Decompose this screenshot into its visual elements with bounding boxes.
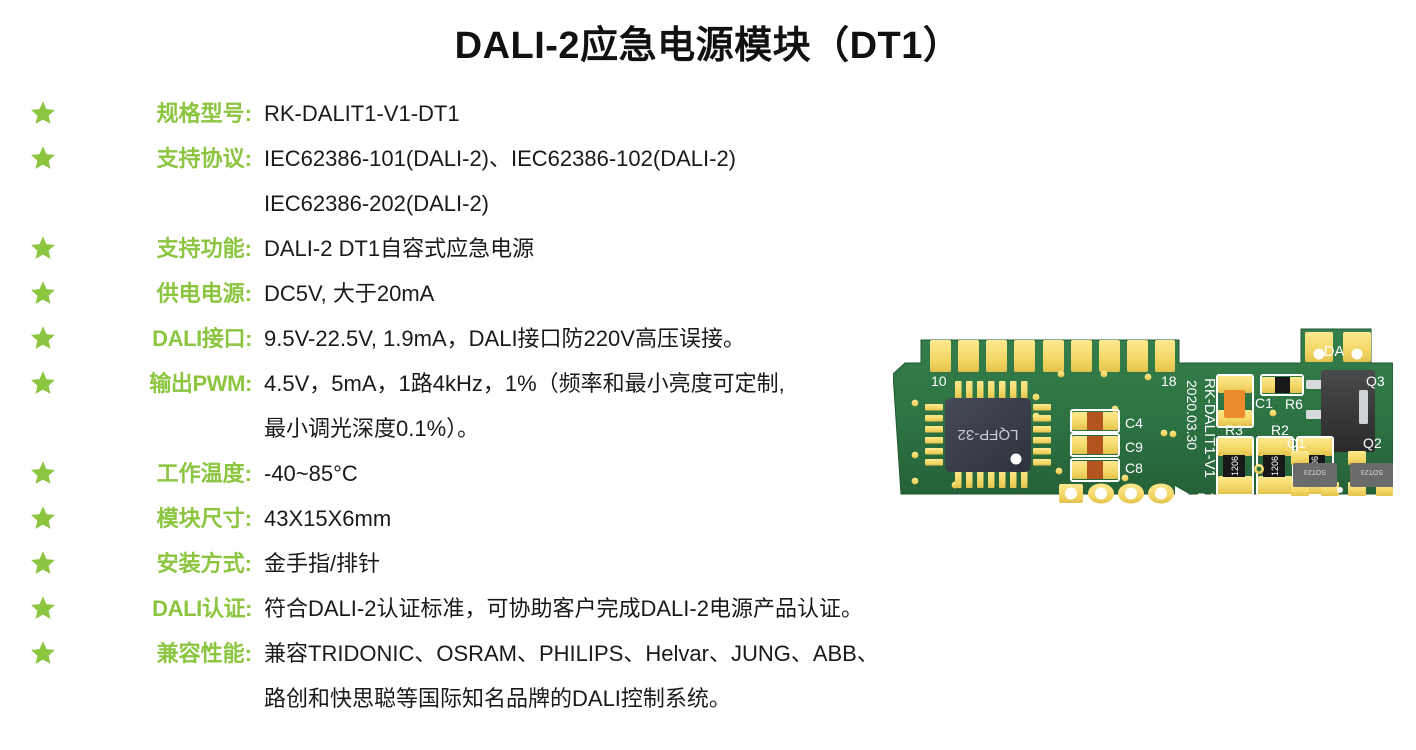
- spec-value-line: -40~85°C: [264, 456, 990, 492]
- spec-value-dali-interface: 9.5V-22.5V, 1.9mA，DALI接口防220V高压误接。: [254, 321, 990, 357]
- spec-row-mounting: 安装方式: 金手指/排针: [30, 546, 990, 591]
- silkscreen-date: 2020.03.30: [1184, 380, 1200, 450]
- spec-value-model: RK-DALIT1-V1-DT1: [254, 96, 990, 132]
- star-bullet-cell: [30, 231, 74, 261]
- silkscreen-ref-c4: C4: [1125, 415, 1143, 431]
- spec-value-line: DALI-2 DT1自容式应急电源: [264, 231, 990, 267]
- silkscreen-ref-r6: R6: [1285, 396, 1303, 412]
- spec-row-dimensions: 模块尺寸: 43X15X6mm: [30, 501, 990, 546]
- spec-value-compatibility: 兼容TRIDONIC、OSRAM、PHILIPS、Helvar、JUNG、ABB…: [254, 636, 990, 717]
- star-bullet-cell: [30, 636, 74, 666]
- spec-label-compatibility: 兼容性能:: [74, 636, 254, 672]
- star-icon: [30, 505, 56, 531]
- spec-value-line: IEC62386-101(DALI-2)、IEC62386-102(DALI-2…: [264, 141, 990, 177]
- star-icon: [30, 325, 56, 351]
- spec-label-dali-certification: DALI认证:: [74, 591, 254, 627]
- spec-row-pwm-output: 输出PWM: 4.5V，5mA，1路4kHz，1%（频率和最小亮度可定制, 最小…: [30, 366, 990, 456]
- spec-value-line: 最小调光深度0.1%）。: [264, 411, 990, 447]
- star-icon: [30, 550, 56, 576]
- silkscreen-ref-r4: R4: [1197, 490, 1215, 506]
- pcb-illustration: 10 18: [893, 318, 1393, 518]
- spec-value-features: DALI-2 DT1自容式应急电源: [254, 231, 990, 267]
- silkscreen-pin-left: 10: [931, 373, 947, 389]
- spec-value-line: 9.5V-22.5V, 1.9mA，DALI接口防220V高压误接。: [264, 321, 990, 357]
- spec-value-line: 4.5V，5mA，1路4kHz，1%（频率和最小亮度可定制,: [264, 366, 990, 402]
- spec-value-power-supply: DC5V, 大于20mA: [254, 276, 990, 312]
- spec-row-operating-temperature: 工作温度: -40~85°C: [30, 456, 990, 501]
- star-icon: [30, 100, 56, 126]
- spec-row-power-supply: 供电电源: DC5V, 大于20mA: [30, 276, 990, 321]
- spec-label-pwm-output: 输出PWM:: [74, 366, 254, 402]
- silkscreen-ref-r3: R3: [1225, 422, 1243, 438]
- spec-label-power-supply: 供电电源:: [74, 276, 254, 312]
- pcb-power-section: C1 R6 Q3 1206 1206 1206 R3: [1197, 370, 1393, 506]
- spec-row-dali-interface: DALI接口: 9.5V-22.5V, 1.9mA，DALI接口防220V高压误…: [30, 321, 990, 366]
- pcb-through-hole-pads: [1059, 484, 1189, 504]
- pcb-product-image: 10 18: [893, 318, 1393, 518]
- spec-label-dimensions: 模块尺寸:: [74, 501, 254, 537]
- spec-value-line: 路创和快思聪等国际知名品牌的DALI控制系统。: [264, 681, 990, 717]
- spec-row-protocols: 支持协议: IEC62386-101(DALI-2)、IEC62386-102(…: [30, 141, 990, 231]
- star-bullet-cell: [30, 366, 74, 396]
- silkscreen-chip-label: LQFP-32: [958, 426, 1019, 443]
- spec-label-operating-temperature: 工作温度:: [74, 456, 254, 492]
- spec-label-mounting: 安装方式:: [74, 546, 254, 582]
- spec-row-compatibility: 兼容性能: 兼容TRIDONIC、OSRAM、PHILIPS、Helvar、JU…: [30, 636, 990, 726]
- star-bullet-cell: [30, 456, 74, 486]
- page-title: DALI-2应急电源模块（DT1）: [0, 14, 1416, 69]
- silkscreen-ref-q1: Q1: [1287, 435, 1306, 451]
- star-bullet-cell: [30, 96, 74, 126]
- silkscreen-model: RK-DALIT1-V1: [1201, 378, 1218, 478]
- silkscreen-ref-c8: C8: [1125, 460, 1143, 476]
- spec-value-pwm-output: 4.5V，5mA，1路4kHz，1%（频率和最小亮度可定制, 最小调光深度0.1…: [254, 366, 990, 447]
- pcb-gold-fingers: [930, 340, 1175, 372]
- star-bullet-cell: [30, 546, 74, 576]
- star-icon: [30, 460, 56, 486]
- spec-value-line: IEC62386-202(DALI-2): [264, 186, 990, 222]
- star-bullet-cell: [30, 591, 74, 621]
- spec-value-operating-temperature: -40~85°C: [254, 456, 990, 492]
- star-bullet-cell: [30, 501, 74, 531]
- star-icon: [30, 595, 56, 621]
- silkscreen-ref-q2: Q2: [1363, 435, 1382, 451]
- component-code-1206-a: 1206: [1230, 456, 1240, 476]
- silkscreen-connector-da: DA: [1324, 343, 1345, 360]
- spec-list: 规格型号: RK-DALIT1-V1-DT1 支持协议: IEC62386-10…: [30, 96, 990, 726]
- silkscreen-pin-right: 18: [1161, 373, 1177, 389]
- star-icon: [30, 370, 56, 396]
- spec-label-model: 规格型号:: [74, 96, 254, 132]
- component-code-1206-b: 1206: [1270, 456, 1280, 476]
- star-icon: [30, 640, 56, 666]
- spec-value-line: 金手指/排针: [264, 546, 990, 582]
- spec-value-line: 兼容TRIDONIC、OSRAM、PHILIPS、Helvar、JUNG、ABB…: [264, 636, 990, 672]
- spec-label-protocols: 支持协议:: [74, 141, 254, 177]
- spec-value-dimensions: 43X15X6mm: [254, 501, 990, 537]
- star-bullet-cell: [30, 141, 74, 171]
- spec-value-mounting: 金手指/排针: [254, 546, 990, 582]
- spec-value-line: DC5V, 大于20mA: [264, 276, 990, 312]
- star-icon: [30, 235, 56, 261]
- silkscreen-ref-c1: C1: [1255, 395, 1273, 411]
- spec-label-dali-interface: DALI接口:: [74, 321, 254, 357]
- spec-value-line: 43X15X6mm: [264, 501, 990, 537]
- spec-value-protocols: IEC62386-101(DALI-2)、IEC62386-102(DALI-2…: [254, 141, 990, 222]
- component-code-sot23-b: SOT23: [1361, 468, 1383, 475]
- pcb-capacitors: C4 C9 C8: [1071, 410, 1143, 481]
- silkscreen-ref-q3: Q3: [1366, 373, 1385, 389]
- star-bullet-cell: [30, 321, 74, 351]
- spec-value-line: RK-DALIT1-V1-DT1: [264, 96, 990, 132]
- star-bullet-cell: [30, 276, 74, 306]
- spec-row-features: 支持功能: DALI-2 DT1自容式应急电源: [30, 231, 990, 276]
- spec-value-dali-certification: 符合DALI-2认证标准，可协助客户完成DALI-2电源产品认证。: [254, 591, 990, 627]
- spec-row-model: 规格型号: RK-DALIT1-V1-DT1: [30, 96, 990, 141]
- spec-value-line: 符合DALI-2认证标准，可协助客户完成DALI-2电源产品认证。: [264, 591, 990, 627]
- silkscreen-ref-c9: C9: [1125, 439, 1143, 455]
- spec-label-features: 支持功能:: [74, 231, 254, 267]
- spec-row-dali-certification: DALI认证: 符合DALI-2认证标准，可协助客户完成DALI-2电源产品认证…: [30, 591, 990, 636]
- star-icon: [30, 280, 56, 306]
- component-code-sot23-a: SOT23: [1304, 468, 1326, 475]
- star-icon: [30, 145, 56, 171]
